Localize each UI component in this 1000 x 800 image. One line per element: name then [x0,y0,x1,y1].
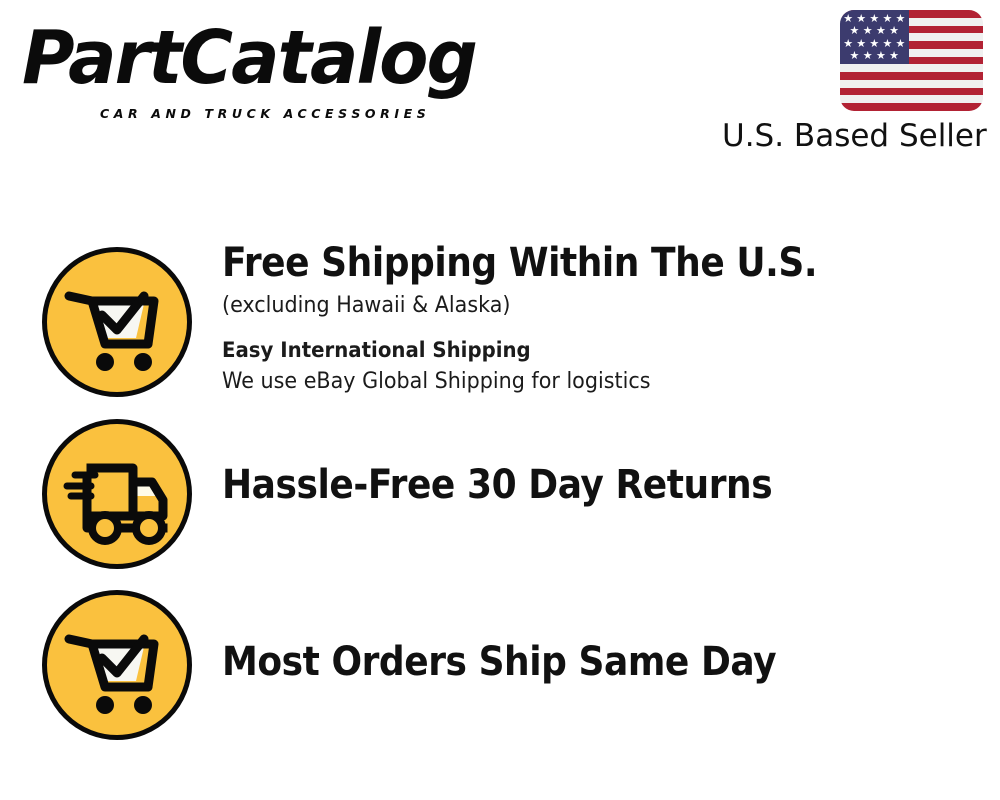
feature-subtitle: Easy International Shipping [222,335,844,365]
promo-banner: PartCatalog CAR AND TRUCK ACCESSORIES ★★… [0,0,1000,800]
flag-star-icon: ★ [856,39,866,50]
flag-star-icon: ★ [889,51,899,62]
flag-star-row: ★★★★ [840,52,909,62]
feature-note: (excluding Hawaii & Alaska) [222,291,844,321]
flag-star-icon: ★ [896,39,906,50]
flag-star-icon: ★ [863,26,873,37]
shopping-cart-check-icon [42,247,192,397]
flag-star-icon: ★ [882,39,892,50]
flag-star-icon: ★ [863,51,873,62]
flag-star-icon: ★ [876,51,886,62]
flag-star-icon: ★ [850,51,860,62]
flag-stripe [840,64,983,72]
flag-stripe [840,95,983,103]
flag-star-icon: ★ [856,14,866,25]
flag-star-icon: ★ [850,26,860,37]
flag-stripe [840,88,983,96]
feature-title: Free Shipping Within The U.S. [222,239,817,287]
flag-star-row: ★★★★★ [840,39,909,49]
flag-star-row: ★★★★★ [840,14,909,24]
flag-stripe [840,103,983,111]
flag-star-icon: ★ [869,39,879,50]
flag-star-icon: ★ [843,39,853,50]
brand-tagline: CAR AND TRUCK ACCESSORIES [100,106,430,121]
delivery-truck-icon [42,419,192,569]
feature-text-returns: Hassle-Free 30 Day Returns [222,461,833,509]
us-flag-icon: ★★★★★★★★★★★★★★★★★★ [840,10,983,111]
feature-text-free-shipping: Free Shipping Within The U.S. (excluding… [222,239,883,397]
flag-star-icon: ★ [889,26,899,37]
flag-star-icon: ★ [843,14,853,25]
flag-star-row: ★★★★ [840,27,909,37]
flag-star-icon: ★ [896,14,906,25]
shopping-cart-check-icon [42,590,192,740]
feature-title: Hassle-Free 30 Day Returns [222,461,772,509]
feature-subtext: We use eBay Global Shipping for logistic… [222,367,844,397]
flag-star-icon: ★ [882,14,892,25]
feature-title: Most Orders Ship Same Day [222,638,776,686]
flag-stripe [840,72,983,80]
flag-canton: ★★★★★★★★★★★★★★★★★★ [840,10,909,64]
flag-stripe [840,80,983,88]
brand-logo: PartCatalog CAR AND TRUCK ACCESSORIES [22,18,492,114]
flag-star-icon: ★ [876,26,886,37]
brand-wordmark: PartCatalog [22,18,476,98]
flag-star-icon: ★ [869,14,879,25]
us-based-seller-label: U.S. Based Seller [722,118,984,154]
feature-text-same-day: Most Orders Ship Same Day [222,638,838,686]
